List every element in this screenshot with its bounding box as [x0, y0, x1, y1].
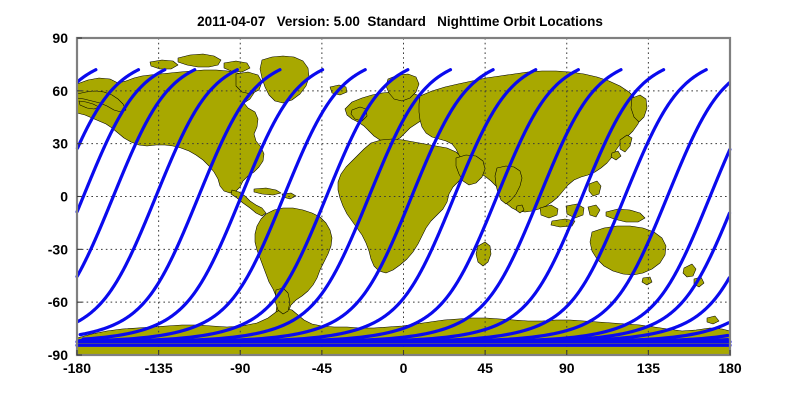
x-tick-label: 180	[718, 360, 742, 376]
x-tick-label: 90	[559, 360, 575, 376]
x-tick-label: -135	[145, 360, 173, 376]
figure-title: 2011-04-07 Version: 5.00 Standard Nightt…	[197, 14, 603, 29]
x-tick-label: 135	[637, 360, 661, 376]
y-tick-label: -60	[48, 294, 68, 310]
x-tick-label: -45	[312, 360, 332, 376]
x-tick-label: 0	[400, 360, 408, 376]
y-tick-label: 90	[52, 30, 68, 46]
y-tick-label: 60	[52, 83, 68, 99]
x-tick-label: 45	[477, 360, 493, 376]
y-tick-label: 0	[60, 189, 68, 205]
orbit-locations-figure: 2011-04-07 Version: 5.00 Standard Nightt…	[0, 0, 800, 400]
y-tick-label: 30	[52, 136, 68, 152]
x-tick-label: -90	[230, 360, 250, 376]
y-tick-label: -30	[48, 241, 68, 257]
y-tick-label: -90	[48, 347, 68, 363]
